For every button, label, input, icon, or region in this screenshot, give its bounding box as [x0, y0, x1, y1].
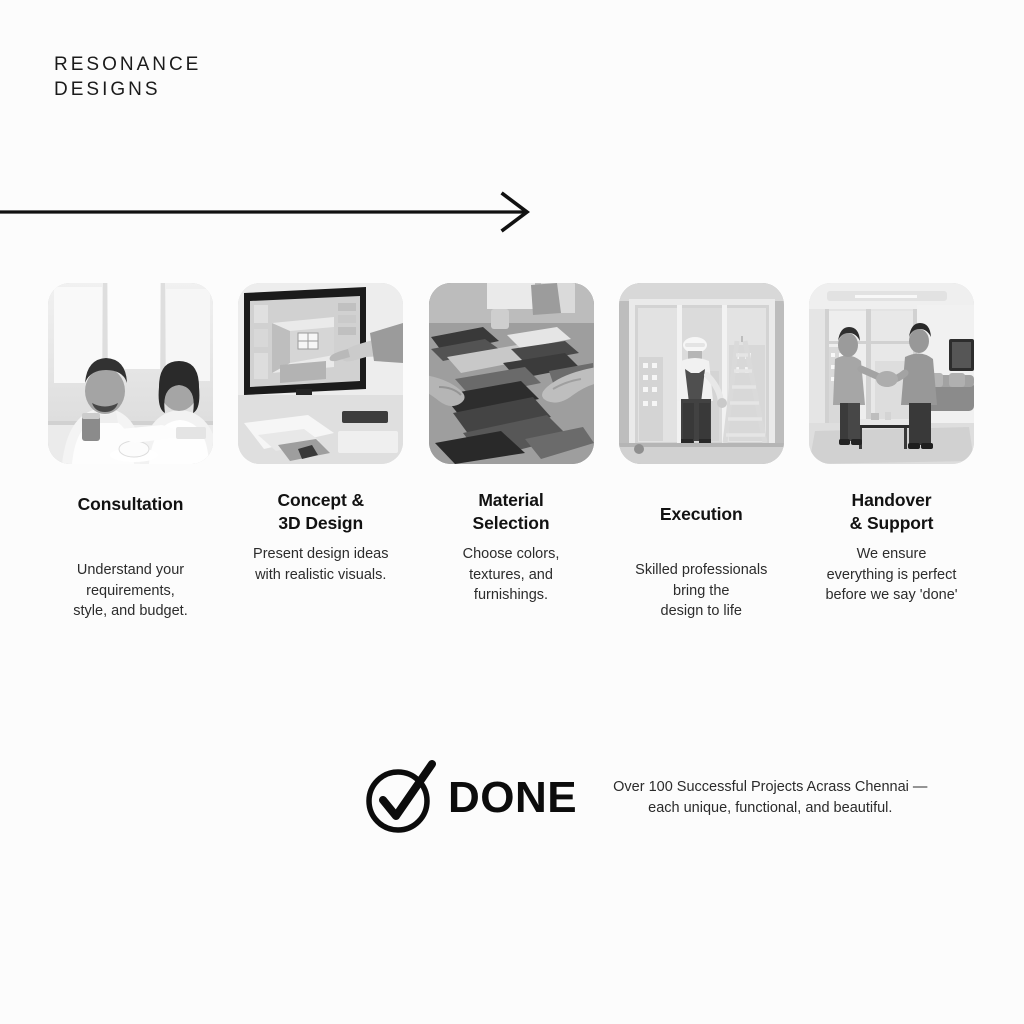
process-steps: Consultation Understand your requirement… — [48, 283, 974, 653]
step-card-concept-3d-design[interactable]: Concept & 3D Design Present design ideas… — [238, 283, 403, 585]
step-card-material-selection[interactable]: Material Selection Choose colors, textur… — [429, 283, 594, 606]
step-description: We ensure everything is perfect before w… — [825, 544, 957, 606]
step-title: Consultation — [78, 486, 184, 545]
consultation-photo — [48, 283, 213, 464]
material-selection-photo — [429, 283, 594, 464]
step-title: Handover & Support — [850, 486, 934, 538]
handover-support-photo — [809, 283, 974, 464]
step-title: Execution — [660, 486, 743, 555]
check-circle-icon — [362, 760, 438, 836]
done-label: DONE — [448, 776, 577, 820]
infographic-page: RESONANCE DESIGNS — [0, 0, 1024, 1024]
right-arrow-icon — [0, 186, 560, 238]
step-card-consultation[interactable]: Consultation Understand your requirement… — [48, 283, 213, 622]
step-description: Choose colors, textures, and furnishings… — [463, 544, 560, 606]
done-note: Over 100 Successful Projects Acrass Chen… — [613, 777, 927, 819]
step-description: Skilled professionals bring the design t… — [635, 560, 767, 622]
brand-wordmark: RESONANCE DESIGNS — [54, 52, 201, 102]
step-title: Concept & 3D Design — [277, 486, 364, 538]
flow-arrow — [0, 186, 560, 238]
step-description: Present design ideas with realistic visu… — [253, 544, 388, 585]
step-description: Understand your requirements, style, and… — [73, 560, 187, 622]
step-card-execution[interactable]: Execution Skilled professionals bring th… — [619, 283, 784, 622]
step-title: Material Selection — [473, 486, 550, 538]
concept-3d-design-photo — [238, 283, 403, 464]
execution-photo — [619, 283, 784, 464]
done-banner: DONE Over 100 Successful Projects Acrass… — [362, 760, 927, 836]
step-card-handover-support[interactable]: Handover & Support We ensure everything … — [809, 283, 974, 606]
